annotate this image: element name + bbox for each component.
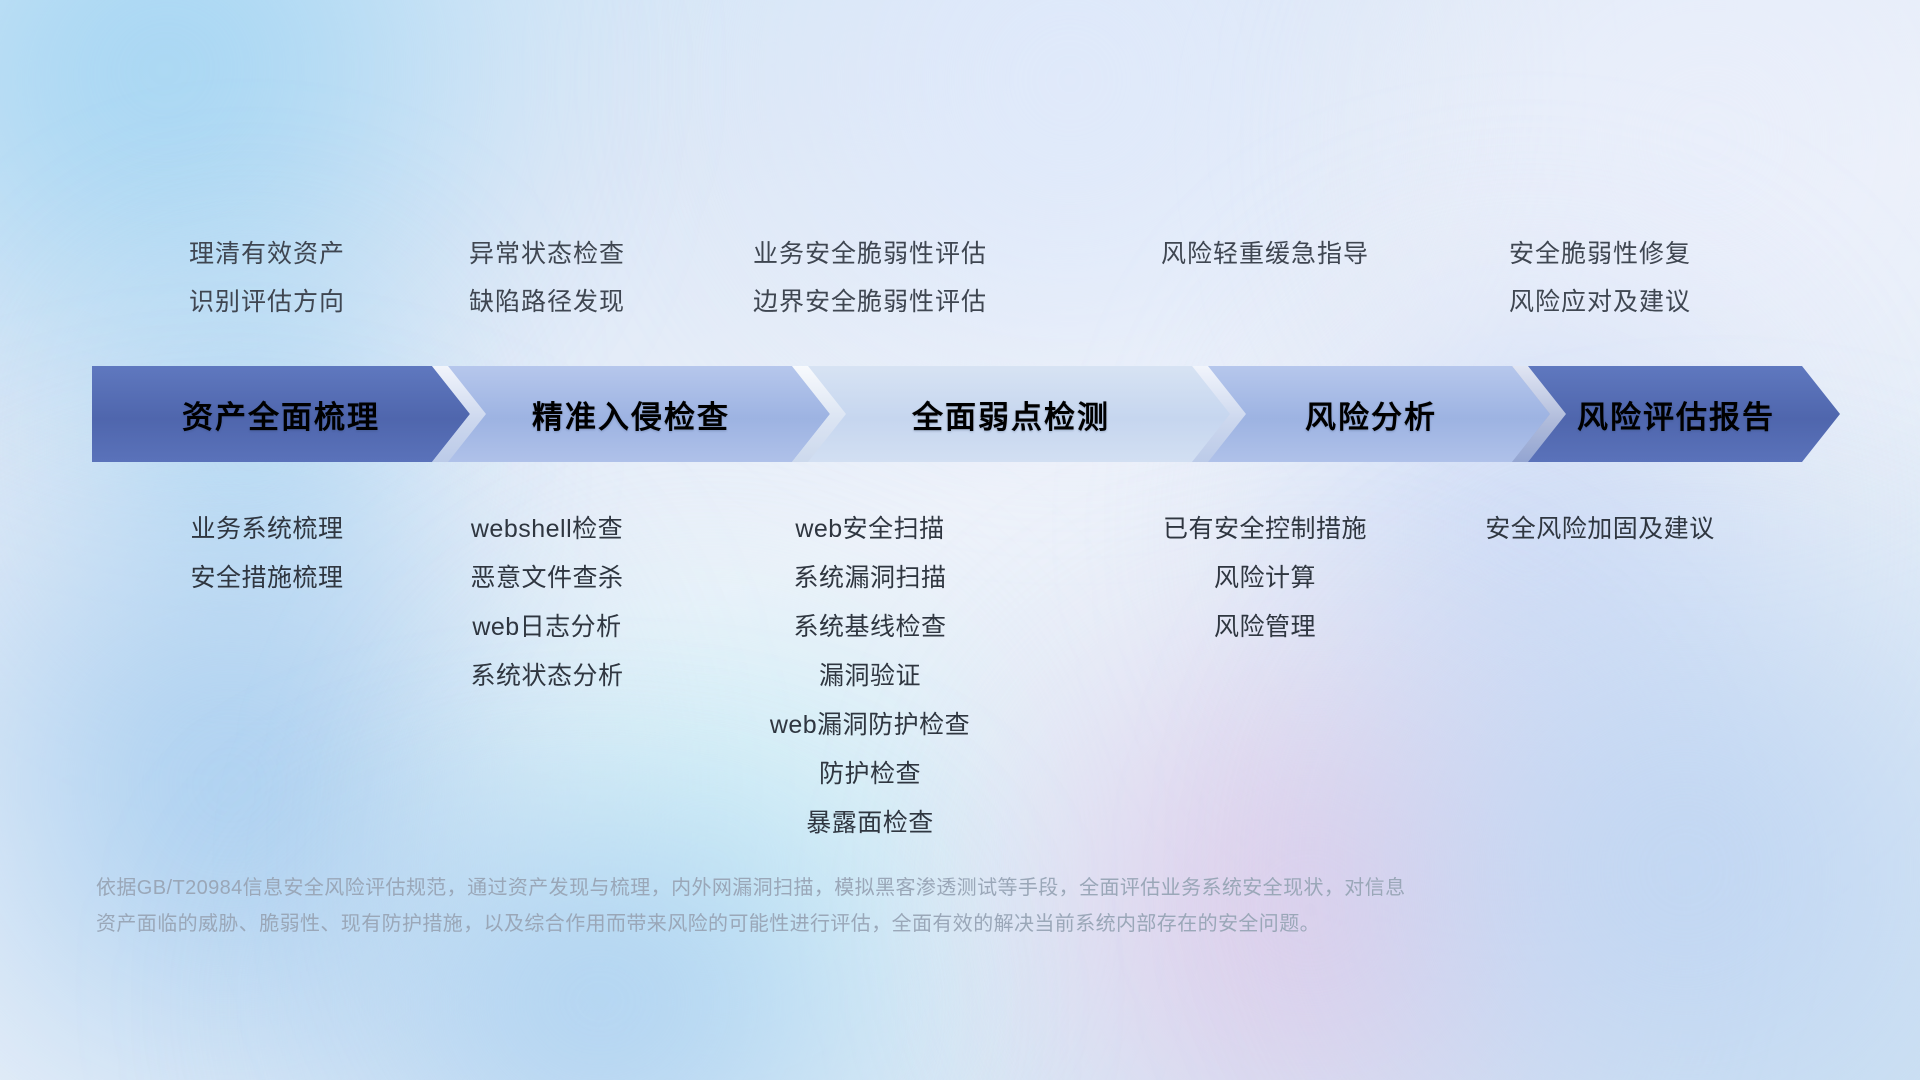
bottom-item: 恶意文件查杀 bbox=[392, 554, 702, 603]
process-chevron-band: 资产全面梳理 精准入侵检查 全面弱点检测 风险分析 风险评估报告 bbox=[92, 366, 1840, 462]
top-item: 缺陷路径发现 bbox=[392, 278, 702, 326]
bottom-item: 业务系统梳理 bbox=[92, 505, 442, 554]
footer-description: 依据GB/T20984信息安全风险评估规范，通过资产发现与梳理，内外网漏洞扫描，… bbox=[96, 870, 1656, 942]
stage-chevron-4[interactable]: 风险分析 bbox=[1192, 366, 1550, 462]
top-item: 风险轻重缓急指导 bbox=[1090, 230, 1440, 278]
column-bottom-labels-2: webshell检查 恶意文件查杀 web日志分析 系统状态分析 bbox=[392, 505, 702, 701]
top-item: 风险应对及建议 bbox=[1400, 278, 1800, 326]
top-item: 识别评估方向 bbox=[92, 278, 442, 326]
bottom-item: 风险管理 bbox=[1085, 603, 1445, 652]
column-top-labels-1: 理清有效资产 识别评估方向 bbox=[92, 230, 442, 326]
top-item: 边界安全脆弱性评估 bbox=[660, 278, 1080, 326]
footer-line-1: 依据GB/T20984信息安全风险评估规范，通过资产发现与梳理，内外网漏洞扫描，… bbox=[96, 870, 1656, 906]
bottom-item: 暴露面检查 bbox=[690, 799, 1050, 848]
bottom-item: 系统基线检查 bbox=[690, 603, 1050, 652]
process-diagram: 理清有效资产 识别评估方向 异常状态检查 缺陷路径发现 业务安全脆弱性评估 边界… bbox=[0, 0, 1920, 1080]
bottom-item: webshell检查 bbox=[392, 505, 702, 554]
top-item: 安全脆弱性修复 bbox=[1400, 230, 1800, 278]
stage-chevron-5[interactable]: 风险评估报告 bbox=[1512, 366, 1840, 462]
footer-line-2: 资产面临的威胁、脆弱性、现有防护措施，以及综合作用而带来风险的可能性进行评估，全… bbox=[96, 906, 1656, 942]
stage-label: 全面弱点检测 bbox=[792, 392, 1230, 437]
stage-label: 资产全面梳理 bbox=[92, 392, 470, 437]
column-bottom-labels-5: 安全风险加固及建议 bbox=[1400, 505, 1800, 554]
column-bottom-labels-1: 业务系统梳理 安全措施梳理 bbox=[92, 505, 442, 603]
stage-label: 风险分析 bbox=[1192, 392, 1550, 437]
column-top-labels-3: 业务安全脆弱性评估 边界安全脆弱性评估 bbox=[660, 230, 1080, 326]
bottom-item: web日志分析 bbox=[392, 603, 702, 652]
top-item: 业务安全脆弱性评估 bbox=[660, 230, 1080, 278]
bottom-item: 系统状态分析 bbox=[392, 652, 702, 701]
column-bottom-labels-3: web安全扫描 系统漏洞扫描 系统基线检查 漏洞验证 web漏洞防护检查 防护检… bbox=[690, 505, 1050, 848]
stage-chevron-3[interactable]: 全面弱点检测 bbox=[792, 366, 1230, 462]
bottom-item: 系统漏洞扫描 bbox=[690, 554, 1050, 603]
column-top-labels-4: 风险轻重缓急指导 bbox=[1090, 230, 1440, 278]
bottom-item: 风险计算 bbox=[1085, 554, 1445, 603]
bottom-item: 已有安全控制措施 bbox=[1085, 505, 1445, 554]
bottom-item: web漏洞防护检查 bbox=[690, 701, 1050, 750]
stage-chevron-1[interactable]: 资产全面梳理 bbox=[92, 366, 470, 462]
bottom-item: 安全措施梳理 bbox=[92, 554, 442, 603]
bottom-item: 安全风险加固及建议 bbox=[1400, 505, 1800, 554]
bottom-item: 防护检查 bbox=[690, 750, 1050, 799]
bottom-item: 漏洞验证 bbox=[690, 652, 1050, 701]
stage-label: 精准入侵检查 bbox=[432, 392, 830, 437]
top-item: 异常状态检查 bbox=[392, 230, 702, 278]
stage-chevron-2[interactable]: 精准入侵检查 bbox=[432, 366, 830, 462]
bottom-item: web安全扫描 bbox=[690, 505, 1050, 554]
stage-label: 风险评估报告 bbox=[1512, 392, 1840, 437]
column-top-labels-2: 异常状态检查 缺陷路径发现 bbox=[392, 230, 702, 326]
column-top-labels-5: 安全脆弱性修复 风险应对及建议 bbox=[1400, 230, 1800, 326]
column-bottom-labels-4: 已有安全控制措施 风险计算 风险管理 bbox=[1085, 505, 1445, 652]
top-item: 理清有效资产 bbox=[92, 230, 442, 278]
